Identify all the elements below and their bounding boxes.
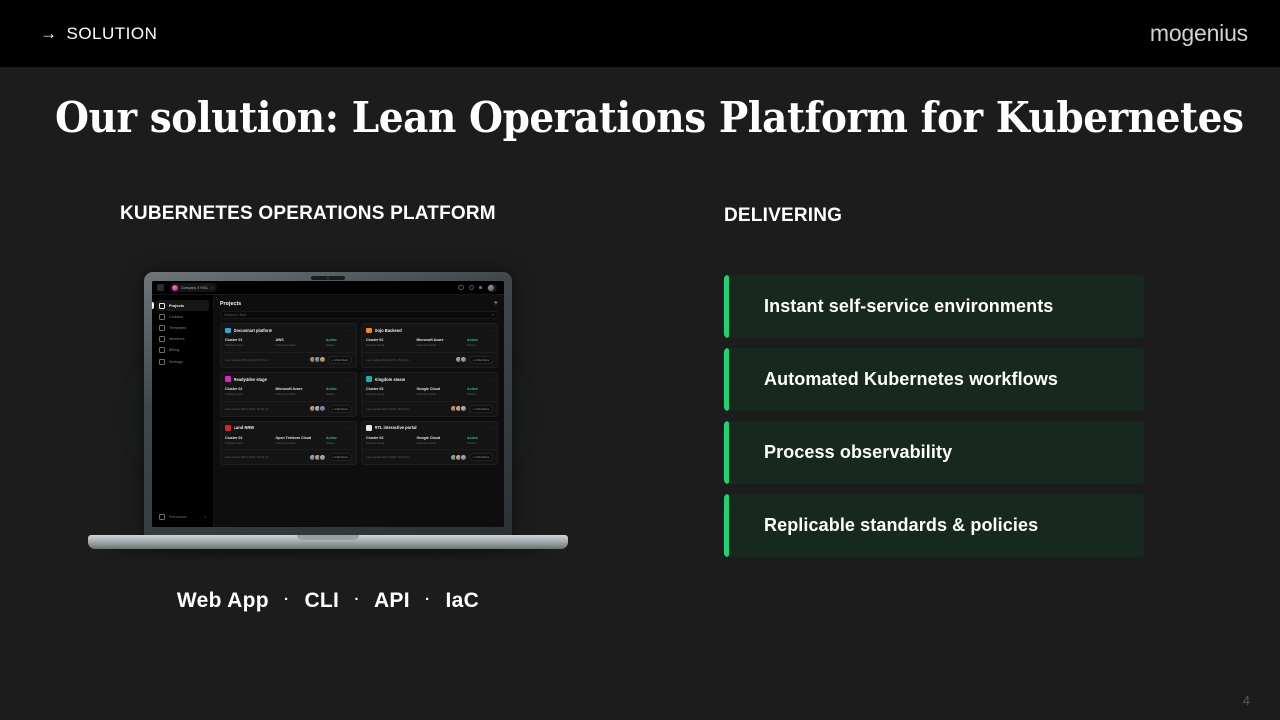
sidebar-item-label: Resources	[169, 515, 187, 519]
project-card[interactable]: Dojo Backend ··· Cluster 02 Cluster name…	[361, 323, 498, 368]
last-update-text: Last update 02/11/2023, 06:15 pm	[225, 407, 269, 411]
status-badge: Active	[326, 338, 352, 342]
delivering-card-label: Process observability	[764, 442, 952, 463]
project-card[interactable]: Ready4dev stage ··· Cluster 02 Cluster n…	[220, 372, 357, 417]
clusters-icon	[159, 314, 165, 320]
accent-bar	[724, 421, 729, 484]
search-placeholder: Keyword / fluid	[224, 313, 246, 317]
status-field: Active Status	[467, 387, 493, 396]
project-card-details: Cluster 04 Cluster name Open Telekom Clo…	[225, 436, 352, 450]
project-card-footer: Last update 02/11/2023, 06:15 pm + 4 Mem…	[221, 401, 356, 416]
cluster-label: Cluster name	[225, 343, 276, 347]
page-number: 4	[1243, 693, 1250, 708]
cluster-value: Cluster 04	[225, 436, 276, 440]
provider-value: AWS	[276, 338, 327, 342]
last-update-text: Last update 02/11/2023, 04:22 pm	[225, 455, 269, 459]
caption-separator: ·	[354, 591, 359, 608]
projects-icon	[159, 303, 165, 309]
project-name: Dojo Backend	[375, 328, 402, 333]
project-card[interactable]: RTL interactive portal ··· Cluster 03 Cl…	[361, 421, 498, 466]
last-update-text: Last update 02/11/2023, 04:20 pm	[366, 455, 410, 459]
platform-interfaces-caption: Web App · CLI · API · IaC	[63, 589, 593, 613]
avatar-stack	[309, 405, 326, 412]
status-field: Active Status	[326, 338, 352, 347]
chevron-down-icon: ▾	[204, 515, 206, 519]
sidebar-item-members[interactable]: Members	[156, 334, 209, 345]
status-label: Status	[467, 343, 493, 347]
status-field: Active Status	[467, 436, 493, 445]
laptop-screen: Company XY001 ▾ Projects	[152, 281, 504, 527]
sidebar-item-settings[interactable]: Settings	[156, 356, 209, 367]
org-name-label: Company XY001	[181, 286, 208, 290]
settings-icon	[159, 359, 165, 365]
left-column-heading: KUBERNETES OPERATIONS PLATFORM	[120, 203, 496, 225]
project-card-details: Cluster 02 Cluster name Microsoft Azure …	[225, 387, 352, 401]
app-body: Projects Clusters Templates Members	[152, 295, 504, 527]
provider-label: Cloud provider	[276, 441, 327, 445]
status-dot-icon	[479, 286, 482, 289]
laptop-base	[88, 535, 568, 549]
project-card-details: Cluster 03 Cluster name Google Cloud Clo…	[366, 436, 493, 450]
status-badge: Active	[467, 387, 493, 391]
project-color-swatch	[225, 376, 231, 382]
add-project-button[interactable]: +	[494, 300, 498, 307]
caption-item-cli: CLI	[304, 589, 339, 612]
delivering-card-label: Automated Kubernetes workflows	[764, 369, 1058, 390]
status-label: Status	[467, 392, 493, 396]
last-update-text: Last update 03/11/2023, 09:25 am	[366, 358, 410, 362]
member-count: + 3 Members	[469, 405, 493, 413]
cluster-label: Cluster name	[225, 392, 276, 396]
org-avatar-icon	[172, 285, 178, 291]
webcam-icon	[311, 276, 345, 280]
provider-field: Microsoft Azure Cloud provider	[276, 387, 327, 396]
sidebar-item-billing[interactable]: Billing	[156, 345, 209, 356]
provider-value: Google Cloud	[417, 387, 468, 391]
laptop-mockup: Company XY001 ▾ Projects	[63, 250, 593, 580]
project-card-header: Dojo Backend ···	[366, 328, 493, 334]
sidebar-item-label: Settings	[169, 360, 183, 364]
accent-bar	[724, 494, 729, 557]
status-field: Active Status	[467, 338, 493, 347]
project-card-details: Cluster 01 Cluster name AWS Cloud provid…	[225, 338, 352, 352]
provider-label: Cloud provider	[276, 343, 327, 347]
brand-logo: mogenius	[1150, 20, 1248, 47]
section-eyebrow-label: SOLUTION	[67, 24, 158, 44]
members-group: + 4 Members	[309, 405, 352, 413]
provider-field: Open Telekom Cloud Cloud provider	[276, 436, 327, 445]
laptop-lid: Company XY001 ▾ Projects	[144, 272, 512, 537]
project-card-footer: Last update 02/11/2023, 04:22 pm + 3 Mem…	[221, 449, 356, 464]
avatar-stack	[309, 454, 326, 461]
status-label: Status	[326, 392, 352, 396]
sidebar-item-label: Members	[169, 337, 185, 341]
last-update-text: Last update 02/11/2023, 08:10 pm	[366, 407, 410, 411]
gear-icon[interactable]	[458, 285, 464, 291]
last-update-text: Last update 03/11/2023, 09:33 am	[225, 358, 269, 362]
templates-icon	[159, 325, 165, 331]
delivering-card-4: Replicable standards & policies	[724, 494, 1144, 557]
content-header: Projects +	[220, 300, 498, 307]
cluster-label: Cluster name	[366, 392, 417, 396]
provider-value: Microsoft Azure	[417, 338, 468, 342]
cluster-label: Cluster name	[225, 441, 276, 445]
cluster-value: Cluster 01	[225, 338, 276, 342]
caption-item-api: API	[374, 589, 410, 612]
right-column-heading: DELIVERING	[724, 205, 842, 227]
project-card-footer: Last update 03/11/2023, 09:33 am + 4 Mem…	[221, 352, 356, 367]
project-card-details: Cluster 02 Cluster name Microsoft Azure …	[366, 338, 493, 352]
more-options-icon[interactable]: ···	[347, 328, 352, 333]
org-switcher[interactable]: Company XY001 ▾	[170, 283, 217, 292]
provider-label: Cloud provider	[417, 343, 468, 347]
delivering-card-3: Process observability	[724, 421, 1144, 484]
sidebar-item-label: Billing	[169, 348, 179, 352]
app-top-bar: Company XY001 ▾	[152, 281, 504, 295]
delivering-card-label: Replicable standards & policies	[764, 515, 1038, 536]
cluster-value: Cluster 03	[366, 387, 417, 391]
avatar-stack	[309, 356, 326, 363]
accent-bar	[724, 275, 729, 338]
project-card[interactable]: Kingdom steam ··· Cluster 03 Cluster nam…	[361, 372, 498, 417]
project-color-swatch	[366, 376, 372, 382]
project-color-swatch	[366, 425, 372, 431]
project-color-swatch	[366, 328, 372, 334]
cluster-field: Cluster 04 Cluster name	[225, 436, 276, 445]
members-group: + 2 Members	[455, 356, 493, 364]
avatar	[460, 405, 467, 412]
project-card-footer: Last update 02/11/2023, 08:10 pm + 3 Mem…	[362, 401, 497, 416]
sidebar-item-resources[interactable]: Resources ▾	[156, 512, 209, 523]
project-name: RTL interactive portal	[375, 425, 417, 430]
accent-bar	[724, 348, 729, 411]
avatar	[319, 405, 326, 412]
provider-value: Google Cloud	[417, 436, 468, 440]
more-options-icon[interactable]: ···	[347, 377, 352, 382]
cluster-value: Cluster 03	[366, 436, 417, 440]
arrow-right-icon: →	[40, 25, 58, 42]
project-card[interactable]: Docusmart platform ··· Cluster 01 Cluste…	[220, 323, 357, 368]
provider-field: AWS Cloud provider	[276, 338, 327, 347]
cluster-value: Cluster 02	[225, 387, 276, 391]
project-name: Kingdom steam	[375, 377, 406, 382]
filter-icon[interactable]: ≡	[492, 313, 494, 317]
caption-separator: ·	[425, 591, 430, 608]
status-field: Active Status	[326, 387, 352, 396]
avatar-stack	[450, 454, 467, 461]
sidebar-spacer	[156, 367, 209, 512]
user-menu[interactable]	[487, 284, 497, 292]
caption-item-iac: IaC	[445, 589, 479, 612]
cluster-field: Cluster 03 Cluster name	[366, 387, 417, 396]
project-card-footer: Last update 02/11/2023, 04:20 pm + 3 Mem…	[362, 449, 497, 464]
members-group: + 3 Members	[450, 405, 493, 413]
sidebar-item-clusters[interactable]: Clusters	[156, 311, 209, 322]
page-title: Our solution: Lean Operations Platform f…	[55, 93, 1244, 142]
project-card[interactable]: Land NRW ··· Cluster 04 Cluster name Ope…	[220, 421, 357, 466]
provider-field: Google Cloud Cloud provider	[417, 436, 468, 445]
avatar-stack	[450, 405, 467, 412]
cluster-field: Cluster 03 Cluster name	[366, 436, 417, 445]
project-card-footer: Last update 03/11/2023, 09:25 am + 2 Mem…	[362, 352, 497, 367]
app-top-bar-actions	[458, 284, 499, 292]
provider-field: Microsoft Azure Cloud provider	[417, 338, 468, 347]
more-options-icon[interactable]: ···	[347, 425, 352, 430]
project-card-header: Land NRW ···	[225, 425, 352, 431]
section-eyebrow: → SOLUTION	[40, 24, 157, 44]
status-badge: Active	[467, 338, 493, 342]
bell-icon[interactable]	[469, 285, 475, 291]
member-count: + 2 Members	[469, 356, 493, 364]
sidebar-item-templates[interactable]: Templates	[156, 322, 209, 333]
members-group: + 3 Members	[309, 453, 352, 461]
provider-value: Microsoft Azure	[276, 387, 327, 391]
more-options-icon[interactable]: ···	[488, 377, 493, 382]
cluster-label: Cluster name	[366, 343, 417, 347]
avatar	[319, 356, 326, 363]
provider-field: Google Cloud Cloud provider	[417, 387, 468, 396]
cluster-label: Cluster name	[366, 441, 417, 445]
app-sidebar: Projects Clusters Templates Members	[152, 295, 214, 527]
caption-item-web-app: Web App	[177, 589, 269, 612]
status-badge: Active	[326, 387, 352, 391]
app-logo-icon	[157, 284, 164, 291]
status-badge: Active	[467, 436, 493, 440]
members-icon	[159, 336, 165, 342]
projects-grid: Docusmart platform ··· Cluster 01 Cluste…	[220, 323, 498, 523]
avatar	[460, 356, 467, 363]
cluster-field: Cluster 02 Cluster name	[225, 387, 276, 396]
project-card-header: Ready4dev stage ···	[225, 376, 352, 382]
provider-label: Cloud provider	[276, 392, 327, 396]
cluster-field: Cluster 01 Cluster name	[225, 338, 276, 347]
chevron-down-icon: ▾	[211, 286, 213, 290]
more-options-icon[interactable]: ···	[488, 425, 493, 430]
avatar	[319, 454, 326, 461]
status-label: Status	[326, 343, 352, 347]
delivering-card-label: Instant self-service environments	[764, 296, 1053, 317]
member-count: + 4 Members	[328, 356, 352, 364]
caption-separator: ·	[284, 591, 289, 608]
billing-icon	[159, 347, 165, 353]
project-name: Ready4dev stage	[234, 377, 267, 382]
project-name: Land NRW	[234, 425, 255, 430]
project-color-swatch	[225, 425, 231, 431]
delivering-card-1: Instant self-service environments	[724, 275, 1144, 338]
project-color-swatch	[225, 328, 231, 334]
member-count: + 3 Members	[469, 453, 493, 461]
project-card-header: Kingdom steam ···	[366, 376, 493, 382]
avatar-stack	[455, 356, 467, 363]
provider-label: Cloud provider	[417, 392, 468, 396]
project-name: Docusmart platform	[234, 328, 273, 333]
avatar	[488, 285, 494, 291]
project-card-header: RTL interactive portal ···	[366, 425, 493, 431]
cluster-value: Cluster 02	[366, 338, 417, 342]
cluster-field: Cluster 02 Cluster name	[366, 338, 417, 347]
project-card-details: Cluster 03 Cluster name Google Cloud Clo…	[366, 387, 493, 401]
avatar	[460, 454, 467, 461]
status-label: Status	[467, 441, 493, 445]
members-group: + 4 Members	[309, 356, 352, 364]
delivering-card-2: Automated Kubernetes workflows	[724, 348, 1144, 411]
top-bar: → SOLUTION mogenius	[0, 0, 1280, 67]
sidebar-item-label: Templates	[169, 326, 186, 330]
member-count: + 4 Members	[328, 405, 352, 413]
content-title: Projects	[220, 301, 241, 307]
provider-value: Open Telekom Cloud	[276, 436, 327, 440]
delivering-card-list: Instant self-service environments Automa…	[724, 275, 1144, 567]
provider-label: Cloud provider	[417, 441, 468, 445]
more-options-icon[interactable]: ···	[488, 328, 493, 333]
members-group: + 3 Members	[450, 453, 493, 461]
status-badge: Active	[326, 436, 352, 440]
sidebar-item-label: Projects	[169, 304, 184, 308]
sidebar-item-projects[interactable]: Projects	[156, 300, 209, 311]
sidebar-item-label: Clusters	[169, 315, 183, 319]
app-content: Projects + Keyword / fluid ≡ Docusmart p…	[214, 295, 504, 527]
search-input[interactable]: Keyword / fluid ≡	[220, 311, 498, 319]
status-label: Status	[326, 441, 352, 445]
project-card-header: Docusmart platform ···	[225, 328, 352, 334]
member-count: + 3 Members	[328, 453, 352, 461]
resources-icon	[159, 514, 165, 520]
status-field: Active Status	[326, 436, 352, 445]
